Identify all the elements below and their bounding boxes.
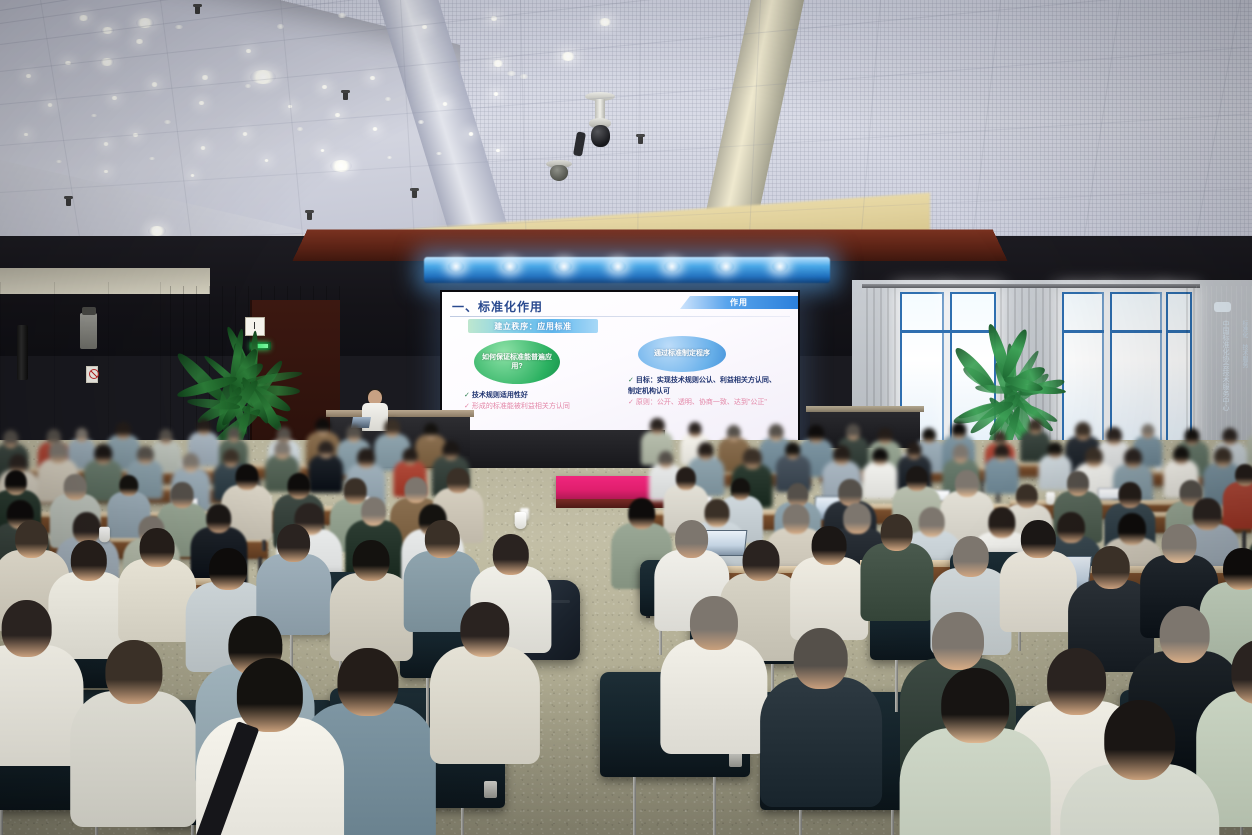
audience-near-7-head xyxy=(492,534,528,575)
audience-near-4-head xyxy=(277,524,311,562)
audience-far2-1-head xyxy=(49,442,68,463)
audience-far-15-head xyxy=(768,424,783,441)
audience-mid-12-head xyxy=(676,467,696,490)
downlight-42 xyxy=(495,149,501,152)
audience-far-0-head xyxy=(3,430,19,447)
audience-near-3-head xyxy=(209,548,247,590)
audience-front-1 xyxy=(70,640,198,835)
audience-mid2-3-head xyxy=(206,504,232,533)
audience-far-12-head xyxy=(650,418,664,434)
audience-far2-3-head xyxy=(137,446,153,464)
slide-right-bullets: ✓目标：实现技术规则公认、利益相关方认同、制定机构认可 ✓原则：公开、透明、协商… xyxy=(628,376,778,409)
audience-mid-7-head xyxy=(404,477,427,503)
sprinkler-0 xyxy=(343,92,348,100)
side-table-right-top xyxy=(806,406,924,412)
audience-near-11-head xyxy=(880,514,913,551)
audience-far2-9-head xyxy=(402,448,417,465)
downlight-large-4 xyxy=(560,52,576,61)
downlight-16 xyxy=(111,96,118,100)
cup-near-1 xyxy=(515,512,527,529)
audience-mid2-5-head xyxy=(361,497,387,526)
audience-far-22-head xyxy=(1029,419,1042,434)
audience-front-0-head xyxy=(1,600,52,657)
downlight-26 xyxy=(385,97,392,101)
downlight-large-8 xyxy=(492,60,504,67)
audience-front-4-body xyxy=(430,646,540,764)
audience-front-6-body xyxy=(760,677,882,807)
slide-title-rule xyxy=(450,316,790,317)
wall-speaker-icon xyxy=(17,325,28,380)
downlight-19 xyxy=(47,103,53,107)
audience-far2-25-head xyxy=(1085,447,1103,467)
downlight-30 xyxy=(242,132,248,136)
audience-mid-4-head xyxy=(235,464,258,490)
audience-mid-18-head xyxy=(1016,484,1038,509)
slide-left-bullets: ✓技术规则适用性好 ✓形成的标准能被利益相关方认同 xyxy=(464,391,604,413)
window-pane-4 xyxy=(1110,292,1162,442)
slide-right-bullet-1: 目标：实现技术规则公认、利益相关方认同、制定机构认可 xyxy=(628,377,776,395)
downlight-40 xyxy=(320,149,325,152)
downlight-31 xyxy=(200,146,206,150)
audience-far2-22-head xyxy=(952,444,969,463)
audience-far2-2-head xyxy=(94,444,112,464)
downlight-36 xyxy=(468,132,474,136)
audience-far2-10-head xyxy=(442,441,459,460)
downlight-34 xyxy=(372,127,378,131)
audience-near-16-head xyxy=(1223,548,1252,590)
downlight-1 xyxy=(135,39,144,44)
audience-far2-24-head xyxy=(1048,442,1063,458)
audience-far2-27-head xyxy=(1173,446,1189,463)
window-transom-3 xyxy=(1110,330,1162,333)
audience-far-23-head xyxy=(1075,422,1091,440)
audience-far-10-head xyxy=(384,419,400,437)
audience-far-13-head xyxy=(688,422,701,437)
audience-near-10-head xyxy=(811,526,846,565)
downlight-12 xyxy=(321,85,328,89)
audience-mid-17-head xyxy=(955,470,979,497)
downlight-4 xyxy=(245,49,252,53)
audience-far2-19-head xyxy=(833,445,851,465)
downlight-37 xyxy=(103,170,109,173)
fire-hose-reel-icon xyxy=(80,313,97,349)
no-smoking-sign-icon xyxy=(86,366,98,383)
audience-front-1-head xyxy=(105,640,162,704)
audience-far-27-head xyxy=(1222,428,1237,445)
downlight-28 xyxy=(493,92,499,96)
audience-mid-8-head xyxy=(447,468,470,493)
sprinkler-3 xyxy=(66,198,71,206)
audience-mid-5-head xyxy=(287,473,310,499)
audience-near-13-head xyxy=(1021,520,1055,558)
downlight-large-5 xyxy=(148,226,166,236)
audience-mid-22-head xyxy=(1235,464,1252,486)
audience-front-5-body xyxy=(660,639,767,754)
downlight-27 xyxy=(442,102,449,106)
audience-foreground-right-head xyxy=(942,668,1010,743)
audience-foreground-far-right xyxy=(1060,700,1220,835)
audience-mid-15-head xyxy=(839,479,863,505)
chair-front-3-leg-2 xyxy=(461,808,464,835)
audience-foreground-right xyxy=(900,668,1051,835)
chair-front-4-leg-1 xyxy=(633,777,636,835)
audience-front-7-head xyxy=(932,612,984,670)
slide-corner-tab: 作用 xyxy=(680,296,798,309)
head-table-top xyxy=(326,410,474,417)
downlight-large-0 xyxy=(250,70,276,84)
audience-front-4-head xyxy=(460,602,509,657)
audience-far2-26-head xyxy=(1124,448,1142,468)
downlight-41 xyxy=(436,152,442,155)
audience-far-26-head xyxy=(1184,428,1199,445)
audience-front-5 xyxy=(660,596,767,764)
sprinkler-1 xyxy=(412,190,417,198)
audience-far2-23-head xyxy=(994,444,1009,461)
downlight-29 xyxy=(297,127,303,131)
slide-bubble-green: 如何保证标准能普遍应用? xyxy=(474,340,560,384)
audience-far-17-head xyxy=(846,424,860,439)
audience-far-6-head xyxy=(227,427,240,442)
audience-far-8-head xyxy=(315,418,330,435)
audience-far2-20-head xyxy=(872,448,888,466)
downlight-38 xyxy=(56,160,62,163)
audience-near-6-head xyxy=(425,520,459,558)
audience-far-25-head xyxy=(1141,424,1154,439)
audience-far2-4-head xyxy=(182,453,200,473)
downlight-33 xyxy=(103,142,109,146)
audience-front-4 xyxy=(430,602,540,775)
audience-far-4-head xyxy=(160,429,173,444)
audience-far2-17-head xyxy=(743,448,761,468)
audience-mid-19-head xyxy=(1067,471,1089,496)
audience-mid-13-head xyxy=(731,478,751,500)
downlight-18 xyxy=(25,74,32,78)
audience-near-2-body xyxy=(118,559,196,642)
audience-near-8-head xyxy=(675,520,709,558)
audience-far-3-head xyxy=(116,422,131,438)
audience-near-0-head xyxy=(15,520,49,558)
audience-mid-2-head xyxy=(119,475,138,497)
audience-near-14-head xyxy=(1092,546,1130,589)
sprinkler-7 xyxy=(195,6,200,14)
downlight-5 xyxy=(338,13,346,18)
downlight-25 xyxy=(334,113,341,117)
audience-mid-1-head xyxy=(64,474,87,499)
audience-far2-21-head xyxy=(907,442,922,459)
chair-front-1-leg-1 xyxy=(0,810,3,835)
audience-far-16-head xyxy=(808,425,824,443)
blue-light-cove xyxy=(424,257,830,283)
chair-front-4-leg-2 xyxy=(713,777,716,835)
audience-near-15-head xyxy=(1161,524,1196,563)
audience-front-6 xyxy=(760,628,882,819)
slide-title: 一、标准化作用 xyxy=(452,298,543,315)
slide-bubble-blue: 通过标准制定程序 xyxy=(638,336,726,372)
audience-near-1-head xyxy=(70,540,106,581)
chair-front-5-leg-2 xyxy=(891,810,894,835)
audience-far2-8-head xyxy=(357,448,375,468)
audience-far-18-head xyxy=(878,428,893,445)
audience-front-5-head xyxy=(690,596,738,650)
banner-logo-icon xyxy=(1214,302,1231,312)
ceiling-sensor-dome-icon xyxy=(546,160,572,186)
audience-far2-6-head xyxy=(275,441,290,458)
audience-foreground-far-right-head xyxy=(1104,700,1176,780)
curtain-rod xyxy=(862,284,1200,288)
slide-right-bullet-2: 原则：公开、透明、协商一致、达到"公正" xyxy=(636,399,767,406)
audience-far-5-head xyxy=(196,419,210,435)
audience-near-5-head xyxy=(353,540,390,581)
slide-section-bar: 建立秩序：应用标准 xyxy=(468,319,598,333)
audience-mid-16-head xyxy=(905,466,927,491)
audience-far-9-head xyxy=(347,425,362,442)
audience-mid-0-head xyxy=(5,470,27,495)
downlight-17 xyxy=(164,120,171,124)
chair-front-3-knob xyxy=(484,781,497,798)
window-transom-0 xyxy=(900,330,950,333)
attendee-with-shoulder-bag xyxy=(196,658,344,835)
audience-near-9-head xyxy=(743,540,780,581)
slide-left-bullet-2: 形成的标准能被利益相关方认同 xyxy=(472,403,570,410)
audience-near-2 xyxy=(118,528,196,650)
audience-far2-16-head xyxy=(697,442,714,461)
audience-mid2-9-head xyxy=(628,498,656,529)
audience-far2-7-head xyxy=(318,441,334,459)
audience-near-12-head xyxy=(952,536,988,577)
downlight-35 xyxy=(418,120,424,124)
audience-front-3-head xyxy=(338,648,399,716)
attendee-with-shoulder-bag-head xyxy=(237,658,303,732)
audience-near-11-body xyxy=(860,543,933,621)
sprinkler-2 xyxy=(307,212,312,220)
banner-text: 中国标准化协会技术服务中心 xyxy=(1216,320,1229,411)
downlight-large-9 xyxy=(598,18,612,26)
audience-foreground-right-body xyxy=(900,728,1051,835)
chair-mid-4-leg-1 xyxy=(895,660,898,712)
audience-far-11-head xyxy=(423,423,437,439)
audience-far-24-head xyxy=(1105,427,1121,445)
conference-room-photo: 中国标准化协会技术服务中心 标准化 技术服务 一、标准化作用 作用 建立秩序：应… xyxy=(0,0,1252,835)
downlight-10 xyxy=(151,82,159,87)
presentation-slide: 一、标准化作用 作用 建立秩序：应用标准 如何保证标准能普遍应用? 通过标准制定… xyxy=(442,292,798,442)
audience-mid-20-head xyxy=(1119,482,1142,508)
standing-banner: 中国标准化协会技术服务中心 标准化 技术服务 xyxy=(1196,286,1252,446)
dome-security-camera-icon xyxy=(585,92,615,162)
audience-far-20-head xyxy=(951,422,966,439)
downlight-3 xyxy=(201,75,209,80)
banner-subtext: 标准化 技术服务 xyxy=(1234,320,1247,368)
audience-front-1-body xyxy=(70,691,198,827)
audience-near-2-head xyxy=(139,528,174,567)
audience-far2-15-head xyxy=(658,451,673,468)
slide-left-bullet-1: 技术规则适用性好 xyxy=(472,392,528,399)
audience-front-6-head xyxy=(794,628,849,689)
audience-far-2-head xyxy=(75,428,87,442)
